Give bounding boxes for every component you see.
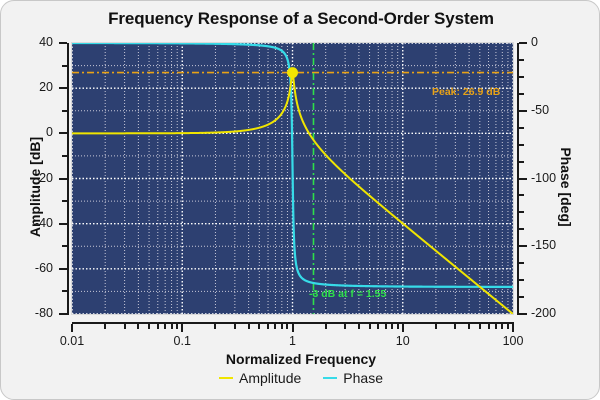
- tick-x-minor: [507, 324, 509, 329]
- plot-clip: [72, 43, 513, 314]
- tick-y-right-minor: [519, 228, 524, 230]
- tick-y-left-minor: [62, 65, 67, 67]
- tick-x-minor: [124, 324, 126, 329]
- tick-label-x: 10: [396, 334, 410, 348]
- figure-canvas: Frequency Response of a Second-Order Sys…: [0, 0, 600, 400]
- tick-x-minor: [488, 324, 490, 329]
- tick-label-y-right: -200: [531, 306, 556, 320]
- axis-label-y-right: Phase [deg]: [558, 77, 574, 297]
- legend-entry-phase[interactable]: Phase: [323, 370, 383, 386]
- tick-x-minor: [104, 324, 106, 329]
- tick-x-minor: [397, 324, 399, 329]
- tick-x-minor: [234, 324, 236, 329]
- tick-label-y-right: -100: [531, 171, 556, 185]
- axis-label-x: Normalized Frequency: [1, 351, 600, 367]
- annotation-peak: Peak: 26.9 dB: [432, 86, 500, 98]
- tick-y-left-minor: [62, 110, 67, 112]
- legend-entry-amplitude[interactable]: Amplitude: [219, 370, 301, 386]
- peak-marker-point: [288, 68, 298, 78]
- axis-label-y-left: Amplitude [dB]: [27, 77, 43, 297]
- tick-x-minor: [435, 324, 437, 329]
- tick-x-minor: [369, 324, 371, 329]
- tick-x-minor: [385, 324, 387, 329]
- tick-label-y-left: -80: [35, 306, 53, 320]
- tick-x-minor: [325, 324, 327, 329]
- tick-y-right-minor: [519, 59, 524, 61]
- tick-x-minor: [164, 324, 166, 329]
- tick-y-right-minor: [519, 262, 524, 264]
- legend-label-phase: Phase: [343, 370, 383, 386]
- tick-y-right-minor: [519, 76, 524, 78]
- tick-x-minor: [171, 324, 173, 329]
- tick-x-minor: [358, 324, 360, 329]
- tick-x-minor: [281, 324, 283, 329]
- tick-y-right-major: [519, 110, 527, 112]
- tick-x-minor: [148, 324, 150, 329]
- tick-y-left-minor: [62, 200, 67, 202]
- tick-y-left-major: [59, 268, 67, 270]
- tick-y-left-major: [59, 87, 67, 89]
- tick-y-right-major: [519, 313, 527, 315]
- tick-label-y-left: 40: [39, 35, 53, 49]
- tick-y-left-major: [59, 223, 67, 225]
- tick-x-minor: [248, 324, 250, 329]
- tick-x-major: [292, 324, 294, 332]
- tick-x-major: [402, 324, 404, 332]
- tick-y-left-major: [59, 313, 67, 315]
- tick-x-minor: [454, 324, 456, 329]
- tick-x-minor: [468, 324, 470, 329]
- tick-x-major: [71, 324, 73, 332]
- tick-x-minor: [501, 324, 503, 329]
- tick-x-minor: [258, 324, 260, 329]
- tick-label-y-left: 0: [46, 125, 53, 139]
- legend-swatch-amplitude: [219, 377, 233, 379]
- tick-y-right-minor: [519, 144, 524, 146]
- plot-svg: [72, 43, 513, 314]
- tick-y-left-minor: [62, 290, 67, 292]
- tick-y-left-major: [59, 132, 67, 134]
- tick-x-minor: [377, 324, 379, 329]
- axis-spine-left: [67, 43, 69, 315]
- tick-x-minor: [274, 324, 276, 329]
- tick-x-minor: [267, 324, 269, 329]
- tick-x-minor: [157, 324, 159, 329]
- tick-label-y-right: -50: [531, 103, 549, 117]
- page-title: Frequency Response of a Second-Order Sys…: [1, 9, 600, 29]
- tick-y-right-minor: [519, 127, 524, 129]
- tick-y-right-major: [519, 178, 527, 180]
- tick-x-minor: [214, 324, 216, 329]
- tick-x-minor: [479, 324, 481, 329]
- tick-x-major: [512, 324, 514, 332]
- tick-y-left-minor: [62, 245, 67, 247]
- tick-y-right-minor: [519, 296, 524, 298]
- tick-label-x: 0.01: [60, 334, 84, 348]
- tick-y-right-minor: [519, 279, 524, 281]
- tick-x-minor: [495, 324, 497, 329]
- tick-y-right-major: [519, 245, 527, 247]
- tick-label-y-right: -150: [531, 238, 556, 252]
- tick-y-right-minor: [519, 161, 524, 163]
- tick-x-minor: [286, 324, 288, 329]
- tick-y-right-minor: [519, 211, 524, 213]
- tick-label-y-right: 0: [531, 35, 538, 49]
- tick-x-minor: [344, 324, 346, 329]
- tick-y-left-minor: [62, 155, 67, 157]
- legend-swatch-phase: [323, 377, 337, 379]
- tick-x-minor: [137, 324, 139, 329]
- tick-x-minor: [391, 324, 393, 329]
- legend: Amplitude Phase: [1, 370, 600, 386]
- tick-label-x: 100: [503, 334, 524, 348]
- tick-y-right-minor: [519, 194, 524, 196]
- tick-x-minor: [176, 324, 178, 329]
- annotation-bandwidth: -3 dB at f = 1.55: [309, 288, 386, 300]
- tick-y-right-major: [519, 42, 527, 44]
- tick-y-right-minor: [519, 93, 524, 95]
- tick-y-left-major: [59, 42, 67, 44]
- tick-x-major: [181, 324, 183, 332]
- plot-area: Peak: 26.9 dB -3 dB at f = 1.55: [72, 43, 513, 314]
- tick-label-x: 1: [289, 334, 296, 348]
- tick-y-left-major: [59, 178, 67, 180]
- legend-label-amplitude: Amplitude: [239, 370, 301, 386]
- tick-label-x: 0.1: [174, 334, 191, 348]
